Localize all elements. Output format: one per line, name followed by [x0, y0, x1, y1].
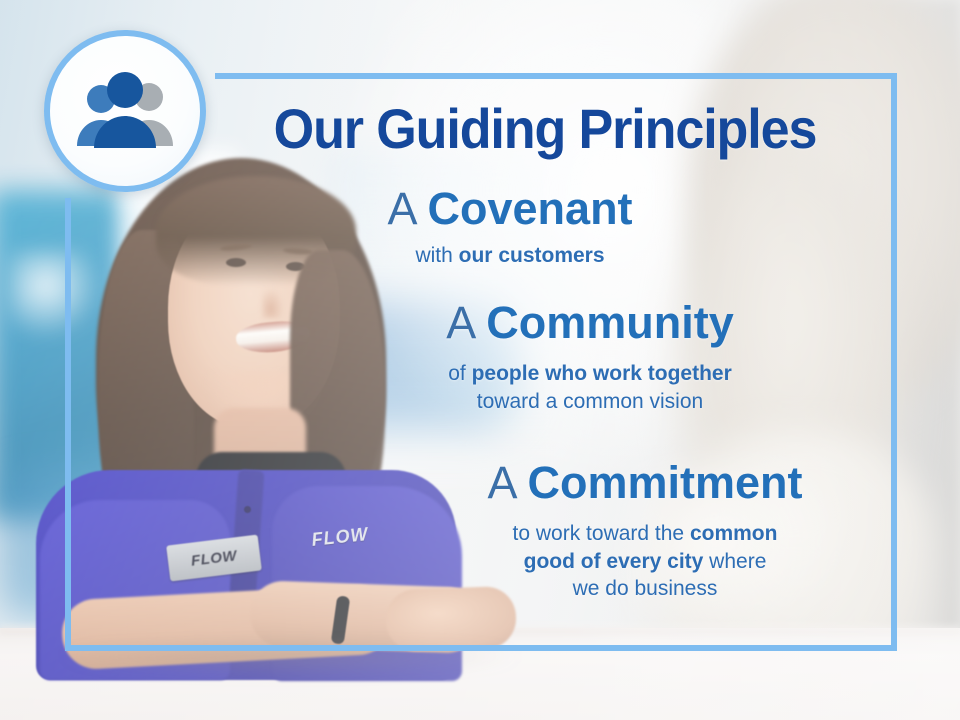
principle-subtext-line: of people who work together	[330, 360, 850, 388]
desk-shadow	[60, 648, 520, 674]
principle-subtext: of people who work togethertoward a comm…	[330, 360, 850, 415]
emphasis-text: common	[690, 522, 778, 545]
principle-commitment: A Commitment to work toward the commongo…	[410, 460, 880, 603]
principle-keyword: Community	[486, 297, 734, 348]
plain-text: where	[703, 550, 766, 573]
principle-subtext-line: we do business	[410, 575, 880, 603]
plain-text: toward a common vision	[477, 390, 703, 413]
principle-keyword: Commitment	[528, 457, 803, 508]
plain-text: to work toward the	[513, 522, 690, 545]
principle-article: A	[446, 297, 474, 348]
principle-covenant: A Covenant with our customers	[270, 186, 750, 270]
principle-heading: A Commitment	[410, 460, 880, 506]
principle-article: A	[487, 457, 515, 508]
car-highlight	[8, 250, 103, 340]
associate-nose	[262, 288, 284, 318]
plain-text: with	[415, 244, 458, 267]
principle-heading: A Community	[330, 300, 850, 346]
emphasis-text: people who work together	[472, 362, 732, 385]
principle-subtext: with our customers	[270, 242, 750, 270]
principle-community: A Community of people who work togethert…	[330, 300, 850, 415]
promotional-graphic: FLOW FLOW	[0, 0, 960, 720]
chest-logo-text: FLOW	[311, 524, 370, 551]
emphasis-text: our customers	[459, 244, 605, 267]
principle-subtext: to work toward the commongood of every c…	[410, 520, 880, 603]
people-group-icon	[73, 72, 177, 150]
plain-text: we do business	[573, 577, 718, 600]
polo-button-top	[244, 506, 251, 513]
principle-article: A	[387, 183, 415, 234]
principle-subtext-line: good of every city where	[410, 548, 880, 576]
principle-heading: A Covenant	[270, 186, 750, 232]
people-badge	[44, 30, 206, 192]
principle-subtext-line: toward a common vision	[330, 388, 850, 416]
principle-subtext-line: with our customers	[270, 242, 750, 270]
page-title: Our Guiding Principles	[238, 96, 852, 161]
associate-eye-left	[226, 258, 246, 267]
name-badge-text: FLOW	[190, 547, 238, 569]
plain-text: of	[448, 362, 471, 385]
principle-keyword: Covenant	[428, 183, 633, 234]
emphasis-text: good of every city	[524, 550, 704, 573]
principle-subtext-line: to work toward the common	[410, 520, 880, 548]
